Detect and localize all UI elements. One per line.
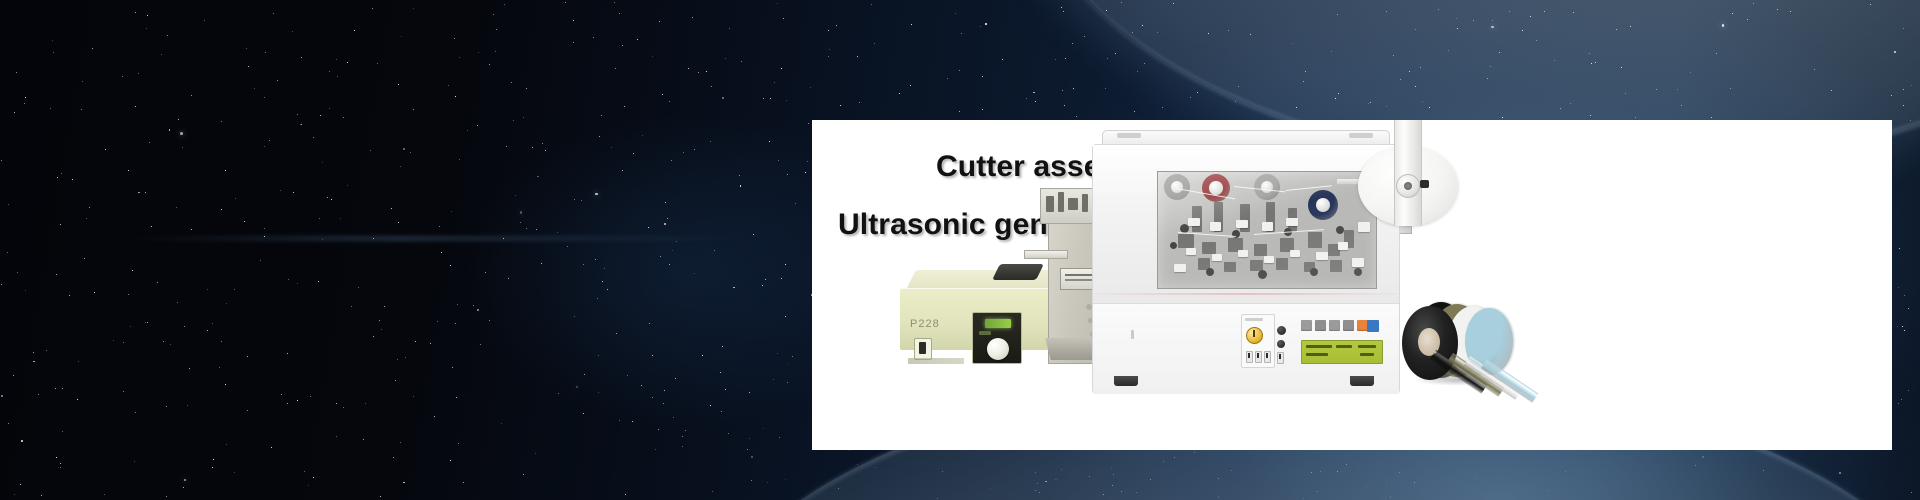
machine-foot-right	[1350, 376, 1374, 386]
machine-top-notch-left	[1117, 133, 1141, 138]
mechanism-node	[1354, 268, 1362, 276]
mechanism-part	[1262, 222, 1273, 231]
mechanism-part	[1212, 254, 1222, 261]
mechanism-part	[1238, 250, 1248, 257]
machine-control-panel	[1241, 314, 1389, 372]
gray-button-1[interactable]	[1301, 320, 1312, 331]
take-up-reel	[1350, 120, 1470, 230]
mechanism-part	[1286, 218, 1298, 226]
machine-foot-left	[1114, 376, 1138, 386]
pulley-0	[1164, 174, 1190, 200]
toggle-switch-4[interactable]	[1277, 352, 1284, 364]
lcd-text-line	[1336, 345, 1352, 348]
generator-label-strip	[908, 358, 964, 364]
multicolor-ribbon-roll	[1396, 288, 1546, 398]
gray-button-3[interactable]	[1329, 320, 1340, 331]
hero-banner: Cutter assembly Ultrasonic generator	[0, 0, 1920, 500]
black-button-2[interactable]	[1277, 340, 1285, 348]
blue-button[interactable]	[1367, 320, 1379, 332]
linkage-part	[1058, 192, 1064, 212]
mechanism-part	[1338, 242, 1348, 250]
pulley-3	[1308, 190, 1338, 220]
toggle-switch-3[interactable]	[1264, 351, 1271, 363]
mechanism-part	[1188, 218, 1200, 226]
mechanism-part	[1290, 250, 1300, 257]
mechanism-feed-arm	[1024, 250, 1068, 259]
panel-button-row	[1301, 320, 1368, 331]
generator-model-label: P228	[910, 318, 940, 330]
machine-lcd-display	[1301, 340, 1383, 364]
key-switch-group	[1241, 314, 1275, 368]
mechanism-node	[1258, 270, 1267, 279]
toggle-switch-2[interactable]	[1255, 351, 1262, 363]
lcd-text-line	[1358, 345, 1376, 348]
mechanism-block	[1178, 234, 1194, 248]
lcd-text-line	[1360, 353, 1374, 356]
toggle-switch-1[interactable]	[1246, 351, 1253, 363]
mechanism-node	[1310, 268, 1318, 276]
linkage-part	[1046, 196, 1054, 212]
generator-display-panel	[972, 312, 1022, 364]
mechanism-block	[1224, 262, 1236, 272]
mechanism-node	[1206, 268, 1214, 276]
mechanism-part	[1352, 258, 1364, 267]
generator-led-readout	[985, 319, 1011, 328]
mechanism-block	[1254, 244, 1267, 256]
mechanism-block	[1308, 232, 1322, 248]
mechanism-block	[1276, 258, 1288, 270]
mechanism-node	[1336, 226, 1344, 234]
key-switch[interactable]	[1246, 327, 1263, 344]
lcd-text-line	[1306, 353, 1328, 356]
mechanism-part	[1236, 220, 1248, 228]
pulley-2	[1254, 174, 1280, 200]
mechanism-part	[1210, 222, 1221, 231]
reel-hub	[1396, 174, 1420, 198]
mechanism-part	[1264, 256, 1274, 263]
machine-viewing-window	[1157, 171, 1377, 289]
mechanism-part	[1186, 248, 1196, 255]
key-switch-label	[1245, 318, 1263, 321]
generator-led-secondary	[979, 331, 991, 335]
machine-vent-slot	[1131, 330, 1134, 339]
mechanism-node	[1170, 242, 1177, 249]
mechanism-part	[1174, 264, 1186, 272]
linkage-part	[1082, 194, 1088, 212]
black-button-1[interactable]	[1277, 326, 1286, 335]
reel-locking-nub	[1420, 180, 1429, 188]
mechanism-block	[1202, 242, 1216, 254]
gray-button-4[interactable]	[1343, 320, 1354, 331]
mechanism-part	[1316, 252, 1328, 260]
product-image-panel: Cutter assembly Ultrasonic generator	[812, 120, 1892, 450]
generator-knob[interactable]	[987, 338, 1009, 360]
lcd-text-line	[1306, 345, 1332, 348]
reel-mounting-post	[1394, 120, 1422, 226]
mechanism-block	[1330, 260, 1342, 272]
linkage-part	[1068, 198, 1078, 210]
generator-power-switch[interactable]	[914, 338, 932, 360]
machine-trim-line	[1095, 293, 1397, 295]
gray-button-2[interactable]	[1315, 320, 1326, 331]
